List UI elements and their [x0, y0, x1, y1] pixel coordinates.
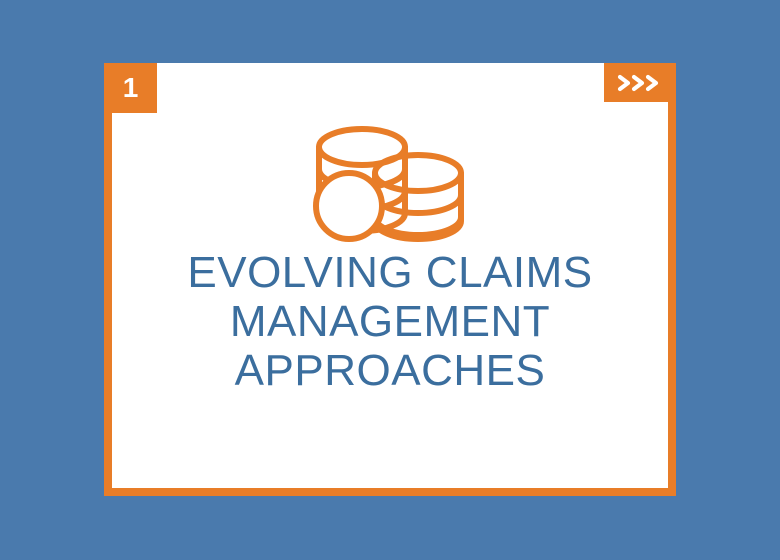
coin-stacks-icon-container [112, 125, 668, 243]
slide-canvas: EVOLVING CLAIMS MANAGEMENT APPROACHES 1 [0, 0, 780, 560]
next-slide-button[interactable] [604, 63, 676, 102]
content-card: EVOLVING CLAIMS MANAGEMENT APPROACHES [104, 63, 676, 496]
slide-number-label: 1 [123, 74, 139, 102]
coin-stacks-icon [305, 125, 475, 243]
slide-number-badge: 1 [104, 63, 157, 113]
title-line-1: EVOLVING CLAIMS [132, 248, 648, 297]
card-inner-surface: EVOLVING CLAIMS MANAGEMENT APPROACHES [112, 63, 668, 488]
title-line-2: MANAGEMENT [132, 297, 648, 346]
triple-chevron-right-icon [617, 73, 663, 93]
page-title: EVOLVING CLAIMS MANAGEMENT APPROACHES [132, 248, 648, 395]
title-line-3: APPROACHES [132, 346, 648, 395]
